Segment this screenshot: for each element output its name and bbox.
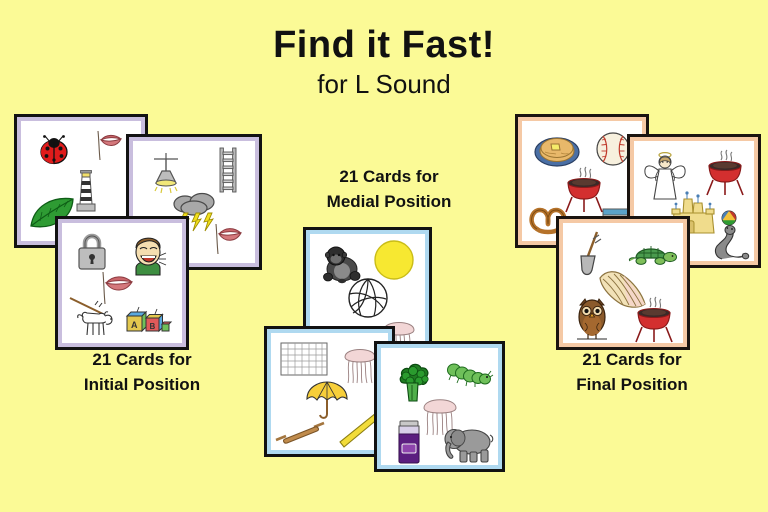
caption-line-1: 21 Cards for <box>22 348 262 373</box>
letter-blocks-icon: A B <box>125 306 171 336</box>
calendar-icon <box>280 342 328 376</box>
caption-line-1: 21 Cards for <box>269 165 509 190</box>
initial-card-3[interactable]: A B <box>55 216 189 350</box>
card-frame <box>559 219 687 347</box>
caption-line-2: Initial Position <box>22 373 262 398</box>
balloon-icon <box>373 239 415 281</box>
baseball-icon <box>595 131 631 167</box>
lips-icon <box>211 222 245 256</box>
final-card-3[interactable] <box>556 216 690 350</box>
card-frame <box>377 344 502 469</box>
caterpillar-icon <box>445 362 493 390</box>
caption-line-2: Final Position <box>512 373 752 398</box>
caption-line-2: Medial Position <box>269 190 509 215</box>
page-subtitle: for L Sound <box>0 68 768 101</box>
turtle-icon <box>625 238 679 268</box>
caption-medial-position: 21 Cards for Medial Position <box>269 165 509 214</box>
ladder-icon <box>218 147 238 193</box>
poster-canvas: Find it Fast! for L Sound <box>0 0 768 512</box>
caption-initial-position: 21 Cards for Initial Position <box>22 348 262 397</box>
title-block: Find it Fast! for L Sound <box>0 26 768 100</box>
grill-icon <box>633 295 675 343</box>
jellyfish-icon <box>342 342 378 384</box>
rolling-pin-icon <box>274 419 326 445</box>
medial-card-3[interactable] <box>374 341 505 472</box>
caption-final-position: 21 Cards for Final Position <box>512 348 752 397</box>
caption-line-1: 21 Cards for <box>512 348 752 373</box>
owl-icon <box>573 295 611 343</box>
svg-text:B: B <box>150 322 156 331</box>
pancakes-icon <box>533 132 581 168</box>
elephant-icon <box>442 425 494 463</box>
leash-dog-icon <box>69 297 123 341</box>
ladybug-icon <box>37 135 73 165</box>
card-frame: A B <box>58 219 186 347</box>
lips-icon <box>93 128 125 162</box>
page-title: Find it Fast! <box>0 26 768 66</box>
seal-icon <box>705 211 751 263</box>
volleyball-icon <box>347 277 389 319</box>
lock-icon <box>76 233 108 271</box>
svg-text:A: A <box>131 320 138 330</box>
jelly-jar-icon <box>394 420 424 464</box>
